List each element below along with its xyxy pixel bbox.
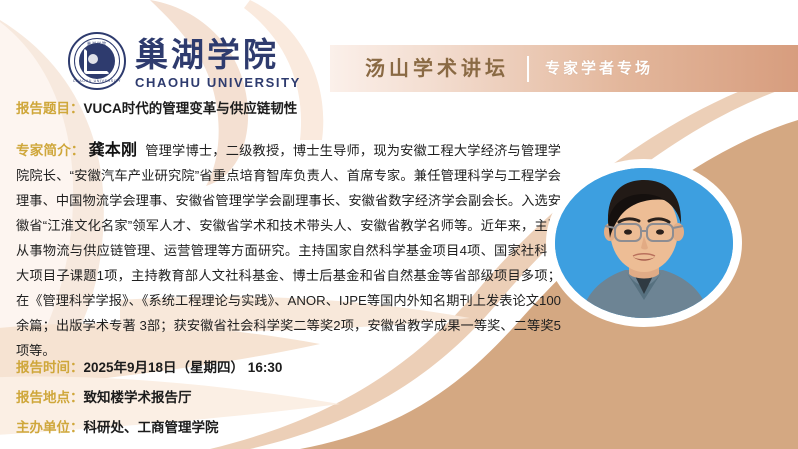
banner-title: 汤山学术讲坛: [365, 59, 509, 79]
university-name-cn: 巢湖学院: [135, 39, 301, 74]
avatar: [551, 164, 737, 322]
report-time-value: 2025年9月18日（星期四） 16:30: [84, 358, 283, 378]
seal-emblem: [79, 43, 115, 79]
seal-arc-bottom-text: CHAOHU UNIVERSITY: [73, 79, 121, 83]
report-place-row: 报告地点： 致知楼学术报告厅: [16, 388, 192, 408]
university-name-block: 巢湖学院 CHAOHU UNIVERSITY: [135, 39, 301, 90]
report-host-value: 科研处、工商管理学院: [84, 418, 219, 438]
banner: 汤山学术讲坛 专家学者专场: [330, 45, 798, 92]
speaker-bio-paragraph: 专家简介： 龚本刚 管理学博士，二级教授，博士生导师，现为安徽工程大学经济与管理…: [16, 138, 561, 363]
chaohu-university-seal-icon: 巢湖学院 CHAOHU UNIVERSITY: [68, 32, 126, 90]
report-time-row: 报告时间： 2025年9月18日（星期四） 16:30: [16, 358, 282, 378]
lecture-poster: 汤山学术讲坛 专家学者专场 巢湖学院 CHAOHU UNIVERSITY 巢湖学…: [0, 0, 798, 449]
banner-divider-line: [527, 56, 529, 82]
speaker-bio-label: 专家简介：: [16, 143, 85, 158]
university-identity: 巢湖学院 CHAOHU UNIVERSITY 巢湖学院 CHAOHU UNIVE…: [68, 32, 301, 90]
report-time-label: 报告时间：: [16, 358, 84, 378]
speaker-portrait-photo: [555, 168, 733, 318]
report-title-value: VUCA时代的管理变革与供应链韧性: [84, 99, 298, 119]
university-name-en: CHAOHU UNIVERSITY: [135, 75, 301, 90]
report-host-label: 主办单位：: [16, 418, 84, 438]
report-place-label: 报告地点：: [16, 388, 84, 408]
speaker-bio-block: 专家简介： 龚本刚 管理学博士，二级教授，博士生导师，现为安徽工程大学经济与管理…: [16, 138, 561, 363]
report-place-value: 致知楼学术报告厅: [84, 388, 192, 408]
report-title-label: 报告题目：: [16, 99, 84, 119]
speaker-bio-text: 管理学博士，二级教授，博士生导师，现为安徽工程大学经济与管理学院院长、“安徽汽车…: [16, 143, 561, 358]
report-host-row: 主办单位： 科研处、工商管理学院: [16, 418, 219, 438]
speaker-name: 龚本刚: [89, 142, 138, 159]
report-title-row: 报告题目： VUCA时代的管理变革与供应链韧性: [16, 99, 297, 119]
banner-subtitle: 专家学者专场: [545, 61, 653, 76]
